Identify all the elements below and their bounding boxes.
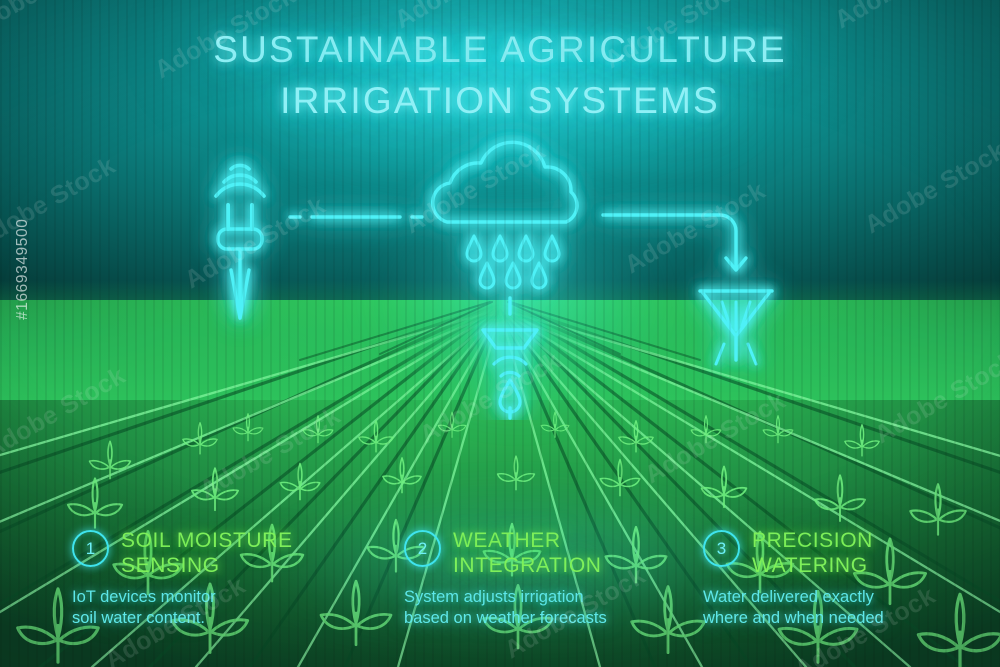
title-line-1: SUSTAINABLE AGRICULTURE bbox=[0, 24, 1000, 75]
legend-item-3-head: 3 PRECISION WATERING bbox=[703, 528, 1000, 578]
legend-item-3-desc-line2: where and when needed bbox=[703, 608, 1000, 629]
title-line-2: IRRIGATION SYSTEMS bbox=[0, 75, 1000, 126]
legend-item-1[interactable]: 1 SOIL MOISTURE SENSING IoT devices moni… bbox=[72, 528, 372, 629]
legend-item-2-desc-line2: based on weather forecasts bbox=[404, 608, 704, 629]
legend-item-2-head: 2 WEATHER INTEGRATION bbox=[404, 528, 704, 578]
legend-item-3-desc: Water delivered exactly where and when n… bbox=[703, 587, 1000, 629]
page-title: SUSTAINABLE AGRICULTURE IRRIGATION SYSTE… bbox=[0, 24, 1000, 126]
legend-item-1-desc-line1: IoT devices monitor bbox=[72, 587, 372, 608]
legend-item-1-title-line1: SOIL MOISTURE bbox=[121, 528, 293, 553]
legend-number-badge-1: 1 bbox=[72, 530, 109, 567]
legend-item-2[interactable]: 2 WEATHER INTEGRATION System adjusts irr… bbox=[404, 528, 704, 629]
legend-item-2-title: WEATHER INTEGRATION bbox=[453, 528, 602, 578]
legend-item-2-desc-line1: System adjusts irrigation bbox=[404, 587, 704, 608]
legend-item-1-title: SOIL MOISTURE SENSING bbox=[121, 528, 293, 578]
legend-item-2-title-line2: INTEGRATION bbox=[453, 553, 602, 578]
legend-item-1-desc: IoT devices monitor soil water content. bbox=[72, 587, 372, 629]
legend-item-3-title-line2: WATERING bbox=[752, 553, 873, 578]
legend-row: 1 SOIL MOISTURE SENSING IoT devices moni… bbox=[0, 528, 1000, 667]
legend-item-1-head: 1 SOIL MOISTURE SENSING bbox=[72, 528, 372, 578]
legend-number-badge-3: 3 bbox=[703, 530, 740, 567]
poster-canvas: SUSTAINABLE AGRICULTURE IRRIGATION SYSTE… bbox=[0, 0, 1000, 667]
legend-item-1-desc-line2: soil water content. bbox=[72, 608, 372, 629]
legend-item-3-title-line1: PRECISION bbox=[752, 528, 873, 553]
legend-number-badge-2: 2 bbox=[404, 530, 441, 567]
legend-item-3-desc-line1: Water delivered exactly bbox=[703, 587, 1000, 608]
legend-item-3-title: PRECISION WATERING bbox=[752, 528, 873, 578]
legend-item-3[interactable]: 3 PRECISION WATERING Water delivered exa… bbox=[703, 528, 1000, 629]
legend-item-2-title-line1: WEATHER bbox=[453, 528, 602, 553]
stock-id-code: #1669349500 bbox=[14, 219, 32, 320]
legend-item-1-title-line2: SENSING bbox=[121, 553, 293, 578]
legend-item-2-desc: System adjusts irrigation based on weath… bbox=[404, 587, 704, 629]
